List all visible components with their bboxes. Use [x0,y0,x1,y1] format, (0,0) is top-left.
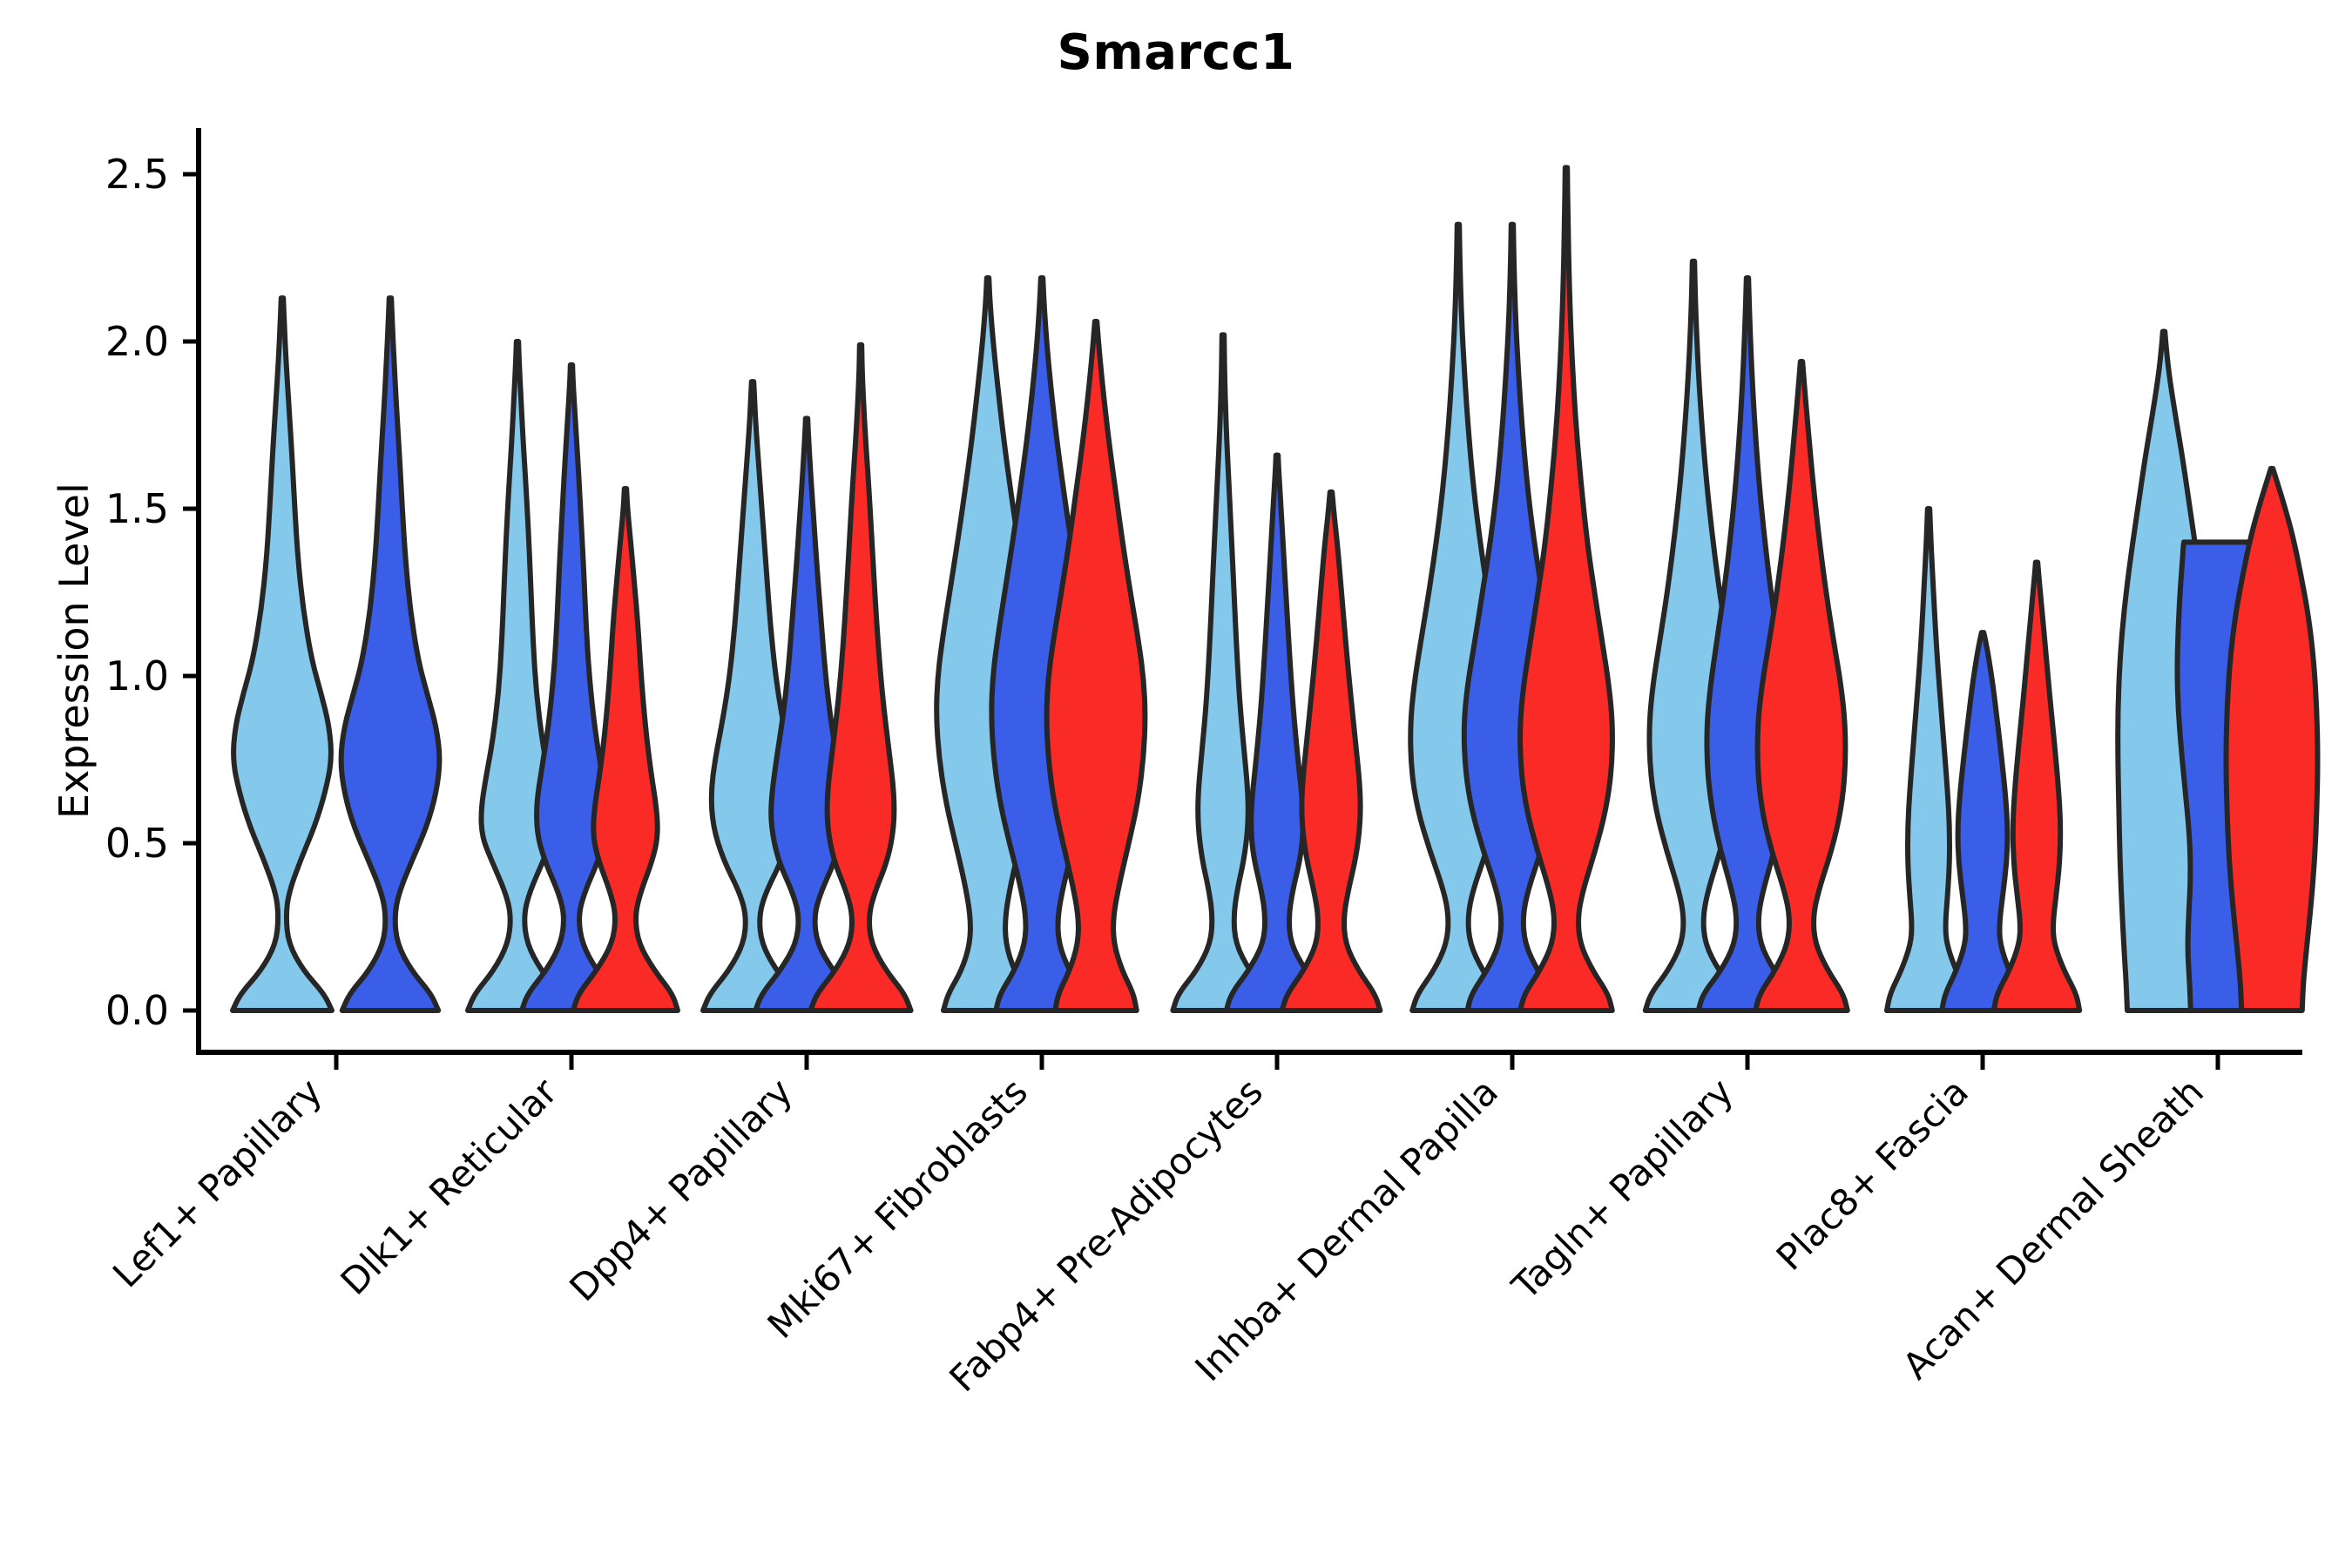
y-tick-label: 2.0 [105,318,169,365]
x-tick-label: Plac8+ Fascia [1768,1070,1977,1278]
plot-canvas: 0.00.51.01.52.02.5 Lef1+ PapillaryDlk1+ … [0,0,2352,1568]
y-tick-label: 0.0 [105,987,169,1034]
x-tick-label: Lef1+ Papillary [105,1070,330,1295]
y-tick-label: 1.0 [105,652,169,700]
y-tick-labels: 0.00.51.01.52.02.5 [105,151,199,1034]
y-tick-label: 1.5 [105,485,169,532]
x-tick-labels: Lef1+ PapillaryDlk1+ ReticularDpp4+ Papi… [105,1052,2218,1400]
y-tick-label: 2.5 [105,151,169,198]
violins-layer [233,167,2318,1010]
violin-shape [341,298,440,1010]
violin-shape [1887,509,1970,1010]
x-tick-label: Mki67+ Fibroblasts [760,1070,1036,1346]
x-tick-label: Tagln+ Papillary [1504,1070,1741,1308]
violin-shape [233,298,332,1010]
violin-shape [1173,335,1273,1010]
y-tick-label: 0.5 [105,820,169,867]
x-tick-label: Dlk1+ Reticular [333,1070,566,1303]
violin-shape [1755,362,1848,1010]
x-tick-label: Dpp4+ Papillary [561,1070,801,1309]
violin-plot-figure: Smarcc1 Expression Level 0.00.51.01.52.0… [0,0,2352,1568]
